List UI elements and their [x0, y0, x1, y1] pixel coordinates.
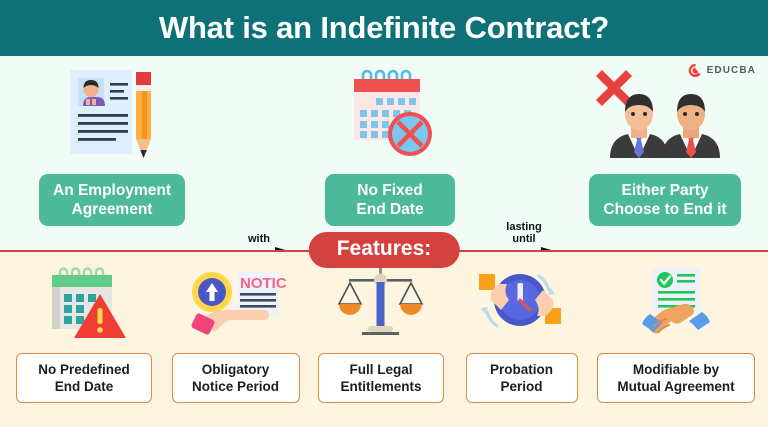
resume-document-with-pencil-icon [56, 66, 168, 166]
feature-label-line-1: Obligatory [202, 362, 270, 377]
step-label-line-2: End Date [356, 201, 423, 218]
hand-holding-notice-document-icon: NOTICE [185, 266, 287, 342]
calendar-with-warning-triangle-icon [38, 266, 130, 342]
feature-label-line-1: Probation [490, 362, 553, 377]
feature-label: Full Legal Entitlements [318, 353, 444, 403]
features-banner-label: Features: [309, 232, 460, 268]
step-label-line-1: An Employment [53, 182, 171, 199]
feature-artwork [473, 266, 571, 342]
process-step-no-fixed-end-date: No Fixed End Date [306, 62, 474, 226]
feature-label: Modifiable by Mutual Agreement [597, 353, 755, 403]
process-section: EDUCBA [0, 56, 768, 252]
process-step-either-party-ends: Either Party Choose to End it [574, 62, 756, 226]
feature-artwork [626, 266, 726, 342]
step-label: Either Party Choose to End it [589, 174, 740, 226]
step-label-line-2: Agreement [72, 201, 153, 218]
businessman-blue-tie [610, 94, 668, 158]
feature-modifiable-by-mutual-agreement: Modifiable by Mutual Agreement [592, 266, 760, 403]
feature-artwork [38, 266, 130, 342]
feature-label: No Predefined End Date [16, 353, 152, 403]
features-section: No Predefined End Date NOTICE [0, 252, 768, 427]
page-title: What is an Indefinite Contract? [159, 0, 609, 56]
step-label-line-1: No Fixed [357, 182, 422, 199]
feature-label-line-1: Full Legal [349, 362, 412, 377]
feature-label-line-1: No Predefined [38, 362, 130, 377]
features-list: No Predefined End Date NOTICE [0, 266, 768, 424]
step-label-line-1: Either Party [621, 182, 708, 199]
feature-label-line-1: Modifiable by [633, 362, 719, 377]
process-step-employment-agreement: An Employment Agreement [22, 62, 202, 226]
feature-label-line-2: Mutual Agreement [617, 379, 734, 394]
step-label: An Employment Agreement [39, 174, 185, 226]
feature-obligatory-notice-period: NOTICE Obligatory [165, 266, 307, 403]
feature-label-line-2: Entitlements [340, 379, 421, 394]
process-steps: An Employment Agreement with [0, 56, 768, 252]
connector-label: lasting until [506, 221, 541, 245]
step-artwork [56, 62, 168, 166]
notice-document-title: NOTICE [240, 275, 287, 292]
businessman-red-tie [662, 94, 720, 158]
feature-label: Obligatory Notice Period [172, 353, 300, 403]
two-businessmen-with-red-x-icon [590, 66, 740, 166]
feature-no-predefined-end-date: No Predefined End Date [8, 266, 160, 403]
infographic-root: What is an Indefinite Contract? EDUCBA [0, 0, 768, 427]
feature-label: Probation Period [466, 353, 578, 403]
header-banner: What is an Indefinite Contract? [0, 0, 768, 56]
connector-label: with [248, 233, 270, 245]
hands-holding-clock-icon [473, 266, 571, 342]
connector-label-line-1: with [248, 233, 270, 245]
step-artwork [338, 62, 442, 166]
feature-full-legal-entitlements: Full Legal Entitlements [311, 266, 451, 403]
handshake-with-approved-document-icon [626, 266, 726, 342]
step-label-line-2: Choose to End it [603, 201, 726, 218]
feature-label-line-2: End Date [55, 379, 114, 394]
step-label: No Fixed End Date [325, 174, 455, 226]
feature-probation-period: Probation Period [456, 266, 588, 403]
connector-label-line-2: until [512, 233, 535, 245]
feature-label-line-2: Notice Period [192, 379, 279, 394]
feature-artwork [335, 266, 427, 342]
feature-label-line-2: Period [500, 379, 542, 394]
connector-label-line-1: lasting [506, 221, 541, 233]
calendar-with-cancel-cross-icon [338, 66, 442, 166]
step-artwork [590, 62, 740, 166]
feature-artwork: NOTICE [185, 266, 287, 342]
scales-of-justice-icon [335, 266, 427, 342]
